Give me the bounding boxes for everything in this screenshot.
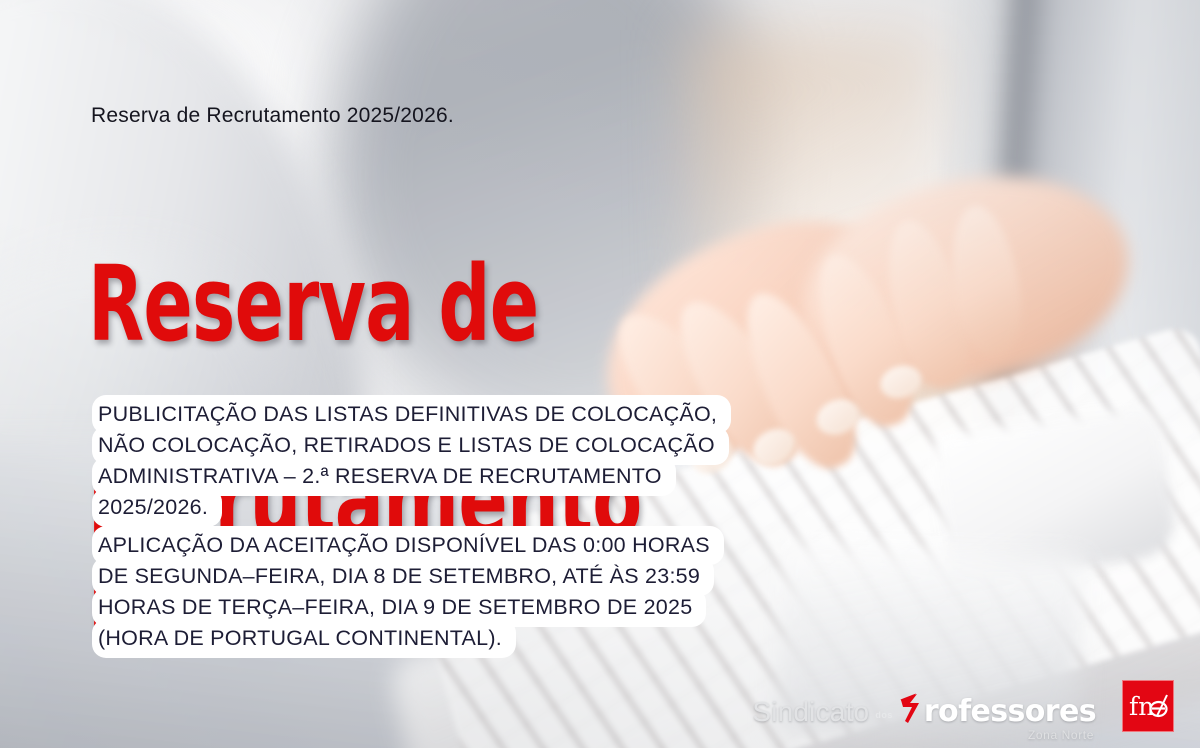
poster-content: Reserva de Recrutamento 2025/2026. Reser… xyxy=(0,0,1200,748)
poster-canvas: Reserva de Recrutamento 2025/2026. Reser… xyxy=(0,0,1200,748)
announcement-line: (HORA DE PORTUGAL CONTINENTAL). xyxy=(92,623,502,654)
announcement-line: DE SEGUNDA–FEIRA, DIA 8 DE SETEMBRO, ATÉ… xyxy=(92,561,700,592)
announcement-line-text: NÃO COLOCAÇÃO, RETIRADOS E LISTAS DE COL… xyxy=(92,430,715,461)
announcement-line-text: (HORA DE PORTUGAL CONTINENTAL). xyxy=(92,623,502,654)
announcement-line: PUBLICITAÇÃO DAS LISTAS DEFINITIVAS DE C… xyxy=(92,399,717,430)
announcement-line-text: 2025/2026. xyxy=(92,492,208,523)
fne-logo: fn xyxy=(1122,680,1174,732)
announcement-line-text: HORAS DE TERÇA–FEIRA, DIA 9 DE SETEMBRO … xyxy=(92,592,692,623)
announcement-line: NÃO COLOCAÇÃO, RETIRADOS E LISTAS DE COL… xyxy=(92,430,715,461)
announcement-line-text: DE SEGUNDA–FEIRA, DIA 8 DE SETEMBRO, ATÉ… xyxy=(92,561,700,592)
logo-zona-norte-text: Zona Norte xyxy=(1028,728,1094,742)
announcement-line-text: APLICAÇÃO DA ACEITAÇÃO DISPONÍVEL DAS 0:… xyxy=(92,530,710,561)
headline-line-1: Reserva de xyxy=(88,243,538,365)
logo-bar: Sindicato dos rofessores Zona Norte xyxy=(752,680,1174,732)
red-arrow-p-icon xyxy=(899,691,923,725)
eyebrow-text: Reserva de Recrutamento 2025/2026. xyxy=(91,104,454,128)
announcement-line: 2025/2026. xyxy=(92,492,208,523)
announcement-line: ADMINISTRATIVA – 2.ª RESERVA DE RECRUTAM… xyxy=(92,461,662,492)
announcement-line-text: PUBLICITAÇÃO DAS LISTAS DEFINITIVAS DE C… xyxy=(92,399,717,430)
announcement-line: HORAS DE TERÇA–FEIRA, DIA 9 DE SETEMBRO … xyxy=(92,592,692,623)
logo-professores-text: rofessores xyxy=(924,694,1096,729)
announcement-line-text: ADMINISTRATIVA – 2.ª RESERVA DE RECRUTAM… xyxy=(92,461,662,492)
logo-sindicato-text: Sindicato xyxy=(752,696,869,728)
announcement-line: APLICAÇÃO DA ACEITAÇÃO DISPONÍVEL DAS 0:… xyxy=(92,530,710,561)
sindicato-professores-logo: Sindicato dos rofessores Zona Norte xyxy=(752,683,1096,729)
logo-dos-text: dos xyxy=(875,710,893,720)
